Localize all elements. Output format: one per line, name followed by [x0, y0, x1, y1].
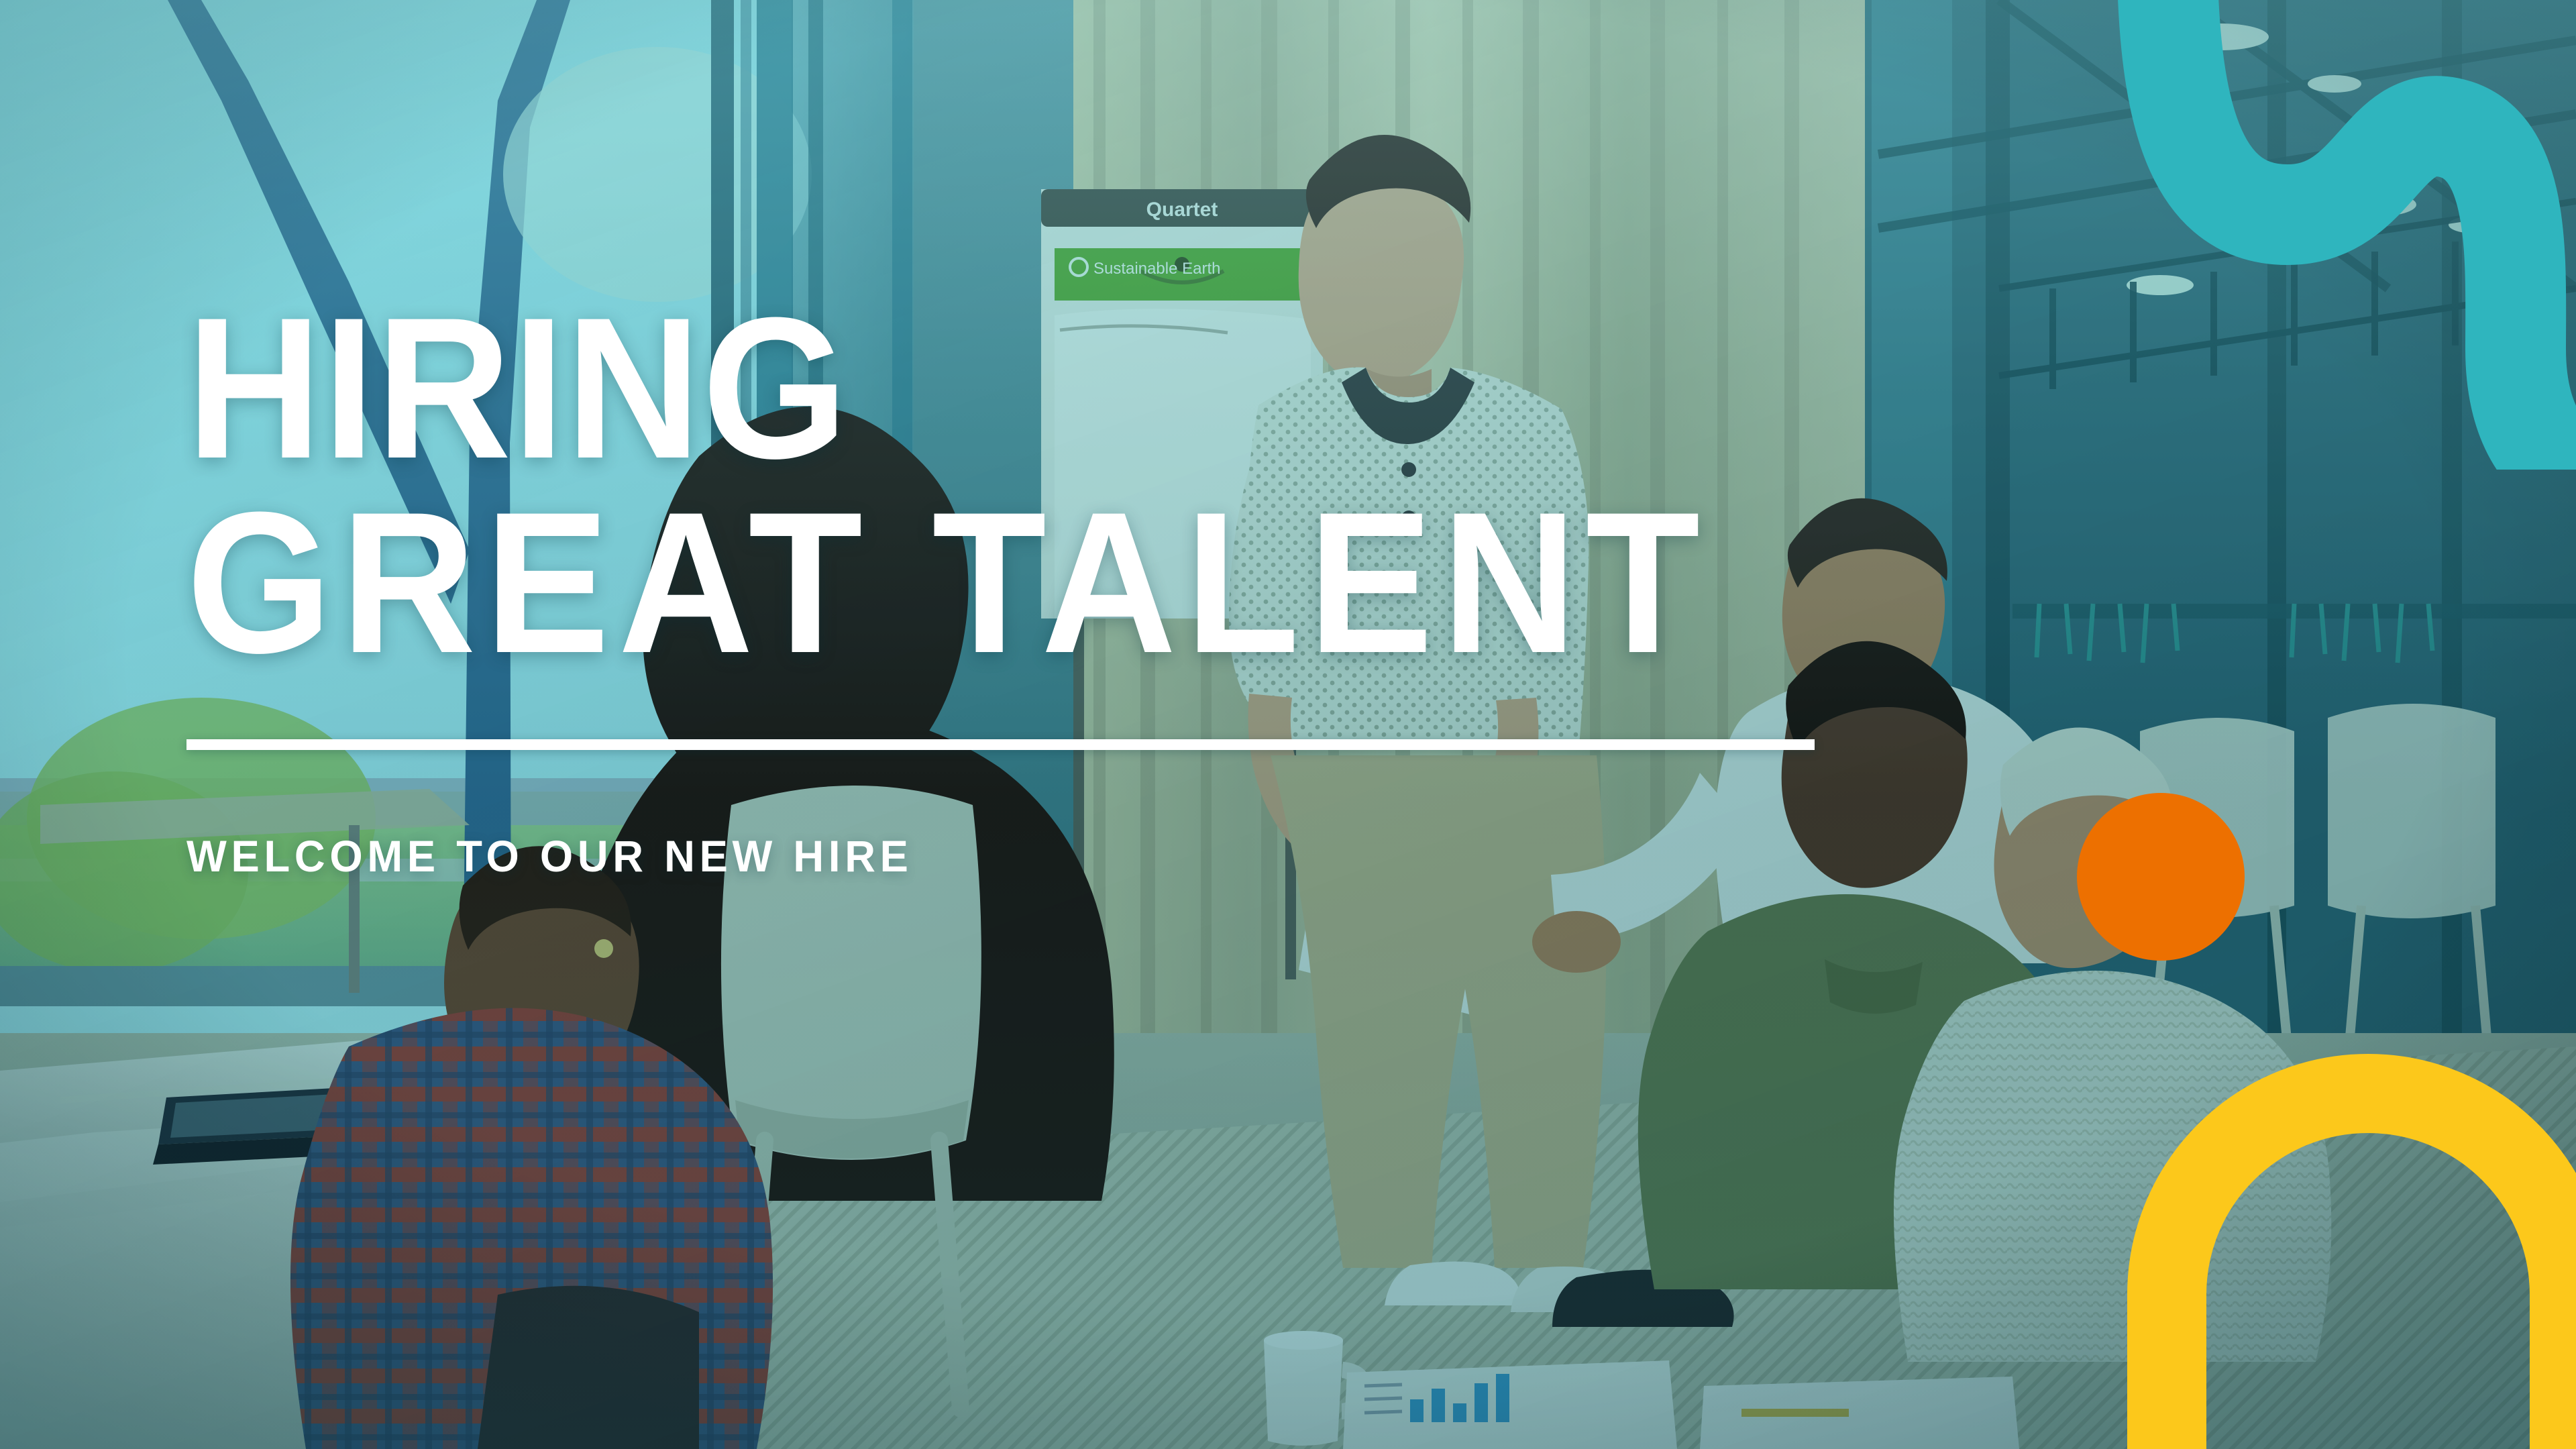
poster-text-block: HIRING GREAT TALENT WELCOME TO OUR NEW H…: [186, 295, 2132, 881]
hiring-poster: Quartet Sustainable Earth: [0, 0, 2576, 1449]
headline-line-1: HIRING: [186, 295, 1996, 480]
white-rule-divider: [186, 739, 1815, 750]
poster-subtitle: WELCOME TO OUR NEW HIRE: [186, 830, 2054, 881]
headline-line-2: GREAT TALENT: [186, 490, 1996, 675]
